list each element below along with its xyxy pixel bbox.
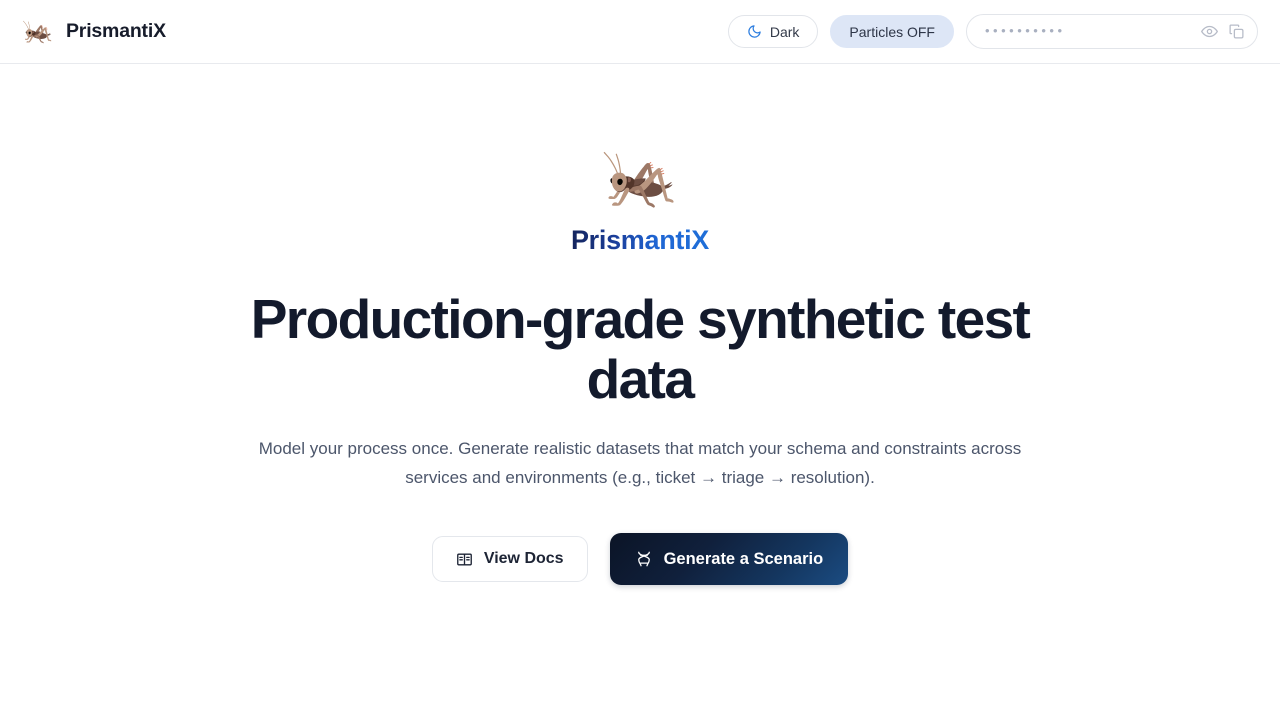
brand-name: PrismantiX xyxy=(66,20,166,43)
app-header: 🦗 PrismantiX Dark Particles OFF ••••••••… xyxy=(0,0,1280,64)
hero-actions: View Docs Generate a Scenario xyxy=(432,533,848,585)
generate-scenario-button[interactable]: Generate a Scenario xyxy=(610,533,849,585)
theme-toggle-button[interactable]: Dark xyxy=(728,15,819,48)
particles-toggle-button[interactable]: Particles OFF xyxy=(830,15,954,48)
api-key-field[interactable]: •••••••••• xyxy=(966,14,1258,49)
copy-icon[interactable] xyxy=(1227,23,1245,41)
moon-icon xyxy=(747,24,762,39)
api-key-masked-value: •••••••••• xyxy=(985,24,1200,39)
api-key-actions xyxy=(1200,23,1245,41)
header-controls: Dark Particles OFF •••••••••• xyxy=(728,14,1258,49)
mantis-logo-icon: 🦗 xyxy=(22,19,52,44)
dna-icon xyxy=(635,550,653,568)
hero-subtitle: Model your process once. Generate realis… xyxy=(245,434,1035,492)
hero-mantis-icon: 🦗 xyxy=(601,141,678,213)
generate-scenario-label: Generate a Scenario xyxy=(664,550,824,569)
theme-toggle-label: Dark xyxy=(770,24,800,40)
hero-section: 🦗 PrismantiX Production-grade synthetic … xyxy=(0,64,1280,585)
brand[interactable]: 🦗 PrismantiX xyxy=(22,0,166,63)
book-icon xyxy=(456,551,473,568)
view-docs-label: View Docs xyxy=(484,550,564,568)
view-docs-button[interactable]: View Docs xyxy=(432,536,588,582)
eye-icon[interactable] xyxy=(1200,23,1218,41)
page-title: Production-grade synthetic test data xyxy=(210,289,1070,409)
particles-toggle-label: Particles OFF xyxy=(849,24,935,40)
hero-wordmark: PrismantiX xyxy=(571,225,709,256)
